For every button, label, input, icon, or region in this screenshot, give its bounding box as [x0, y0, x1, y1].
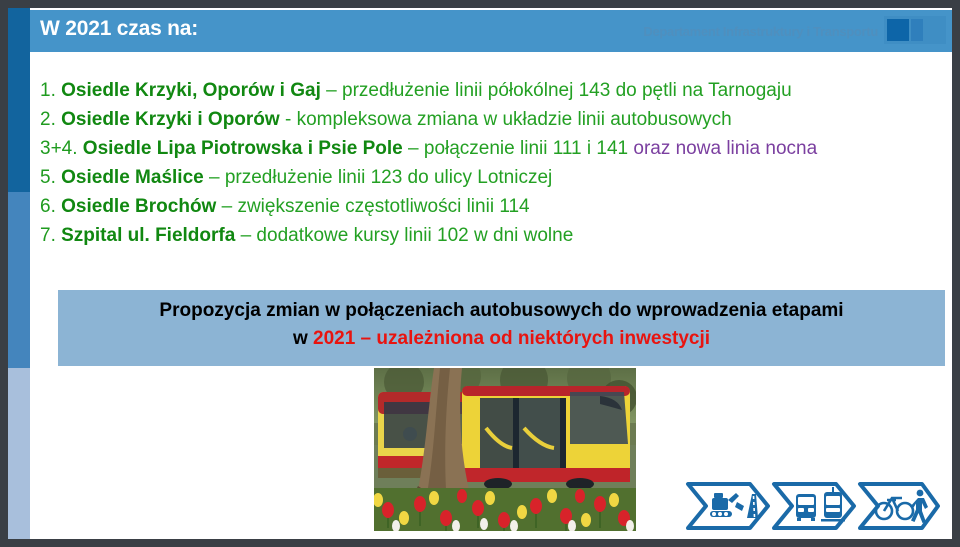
left-accent-strip-dark: [8, 8, 30, 192]
banner-line-2-red: 2021 – uzależniona od niektórych inwesty…: [313, 328, 710, 349]
proposal-banner: Propozycja zmian w połączeniach autobuso…: [58, 290, 945, 366]
logo-block-left: [887, 19, 909, 41]
bus-icon: [796, 494, 816, 521]
department-label: Departament Infrastruktury i Transportu: [643, 24, 878, 39]
list-item-desc: – zwiększenie częstotliwości linii 114: [216, 196, 529, 217]
left-accent-strip-light: [8, 368, 30, 539]
list-item-desc: – przedłużenie linii półokólnej 143 do p…: [321, 80, 792, 101]
list-item-number: 2.: [40, 109, 61, 130]
road-icon: [747, 494, 758, 518]
list-item-title: Szpital ul. Fieldorfa: [61, 225, 235, 246]
banner-line-1: Propozycja zmian w połączeniach autobuso…: [58, 300, 945, 322]
list-item-title: Osiedle Krzyki, Oporów i Gaj: [61, 80, 321, 101]
list-item: 5. Osiedle Maślice – przedłużenie linii …: [30, 163, 952, 192]
bicycle-icon: [876, 498, 913, 519]
banner-line-2-black: w: [293, 328, 313, 349]
list-item-desc: - kompleksowa zmiana w układzie linii au…: [280, 109, 732, 130]
list-item-number: 7.: [40, 225, 61, 246]
list-item-number: 3+4.: [40, 138, 83, 159]
list-item-desc: – połączenie linii 111 i 141: [403, 138, 634, 159]
slide-canvas: W 2021 czas na: Departament Infrastruktu…: [8, 8, 952, 539]
changes-list: 1. Osiedle Krzyki, Oporów i Gaj – przedł…: [30, 76, 952, 250]
department-logo: [884, 16, 946, 44]
bus-photo: [374, 368, 636, 531]
list-item-title: Osiedle Brochów: [61, 196, 216, 217]
list-item: 3+4. Osiedle Lipa Piotrowska i Psie Pole…: [30, 134, 952, 163]
list-item-number: 5.: [40, 167, 61, 188]
list-item-number: 6.: [40, 196, 61, 217]
pedestrian-icon: [910, 490, 928, 523]
list-item: 2. Osiedle Krzyki i Oporów - kompleksowa…: [30, 105, 952, 134]
excavator-icon: [710, 493, 744, 517]
list-item-title: Osiedle Maślice: [61, 167, 204, 188]
slide-header: W 2021 czas na: Departament Infrastruktu…: [30, 10, 952, 52]
list-item: 7. Szpital ul. Fieldorfa – dodatkowe kur…: [30, 221, 952, 250]
logo-block-right: [911, 19, 923, 41]
list-item-number: 1.: [40, 80, 61, 101]
page-title: W 2021 czas na:: [40, 17, 198, 41]
list-item-extra: oraz nowa linia nocna: [633, 138, 817, 159]
list-item-desc: – przedłużenie linii 123 do ulicy Lotnic…: [204, 167, 553, 188]
left-accent-strip-mid: [8, 192, 30, 368]
list-item-title: Osiedle Krzyki i Oporów: [61, 109, 280, 130]
banner-line-2: w 2021 – uzależniona od niektórych inwes…: [58, 328, 945, 350]
list-item: 1. Osiedle Krzyki, Oporów i Gaj – przedł…: [30, 76, 952, 105]
list-item-title: Osiedle Lipa Piotrowska i Psie Pole: [83, 138, 403, 159]
list-item: 6. Osiedle Brochów – zwiększenie częstot…: [30, 192, 952, 221]
mobility-chevron-bar: [684, 478, 942, 534]
list-item-desc: – dodatkowe kursy linii 102 w dni wolne: [235, 225, 573, 246]
